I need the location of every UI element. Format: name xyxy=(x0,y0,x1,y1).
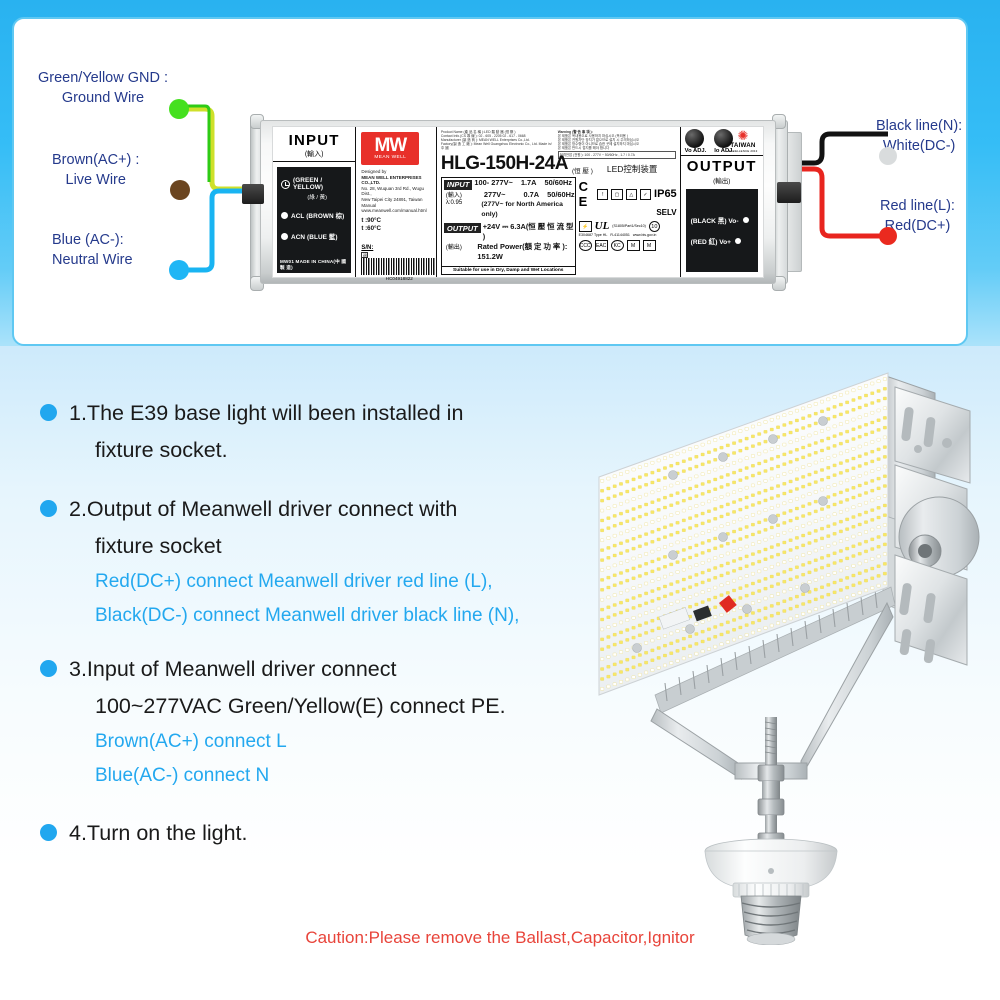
barcode xyxy=(361,258,437,275)
product-info-microtext: Product Name (產 品 名 稱 ):LED 驅 動 器 (恒 壓 )… xyxy=(441,130,552,152)
company-line: MEAN WELL ENTERPRISES CO.,LTD. xyxy=(361,175,432,186)
step-4-text: 4.Turn on the light. xyxy=(69,815,600,852)
ul-mark-icon: UL xyxy=(595,220,610,232)
cert-row-4: CCC EAC KC M M xyxy=(579,240,677,251)
taiwan-star-icon: ✺ xyxy=(726,130,760,142)
step-bullet-icon xyxy=(40,660,57,677)
spec-body: INPUT 100- 277V~ 1.7A 50/60Hz (輸入) 277V~… xyxy=(441,177,677,275)
input-terminal-panel: INPUT (輸入) (GREEN / YELLOW) (綠 / 黃) ACL … xyxy=(273,127,356,277)
terminal-sub-label: (綠 / 黃) xyxy=(287,193,347,201)
input-title-block: INPUT (輸入) xyxy=(273,127,355,162)
output-spec-row-2: (輸出) Rated Power(額 定 功 率 ): 151.2W xyxy=(442,242,575,262)
mount-hole xyxy=(942,438,952,448)
output-cable-gland xyxy=(777,182,801,203)
meanwell-logo: MW MEAN WELL xyxy=(361,132,419,165)
micro-warning-4: 본 제품은 반드시 접지를 해야 합니다 xyxy=(558,146,676,150)
step-2-text: 2.Output of Meanwell driver connect with… xyxy=(69,491,600,565)
mount-hole xyxy=(914,445,922,453)
terminal-dot-icon xyxy=(281,233,288,240)
kc-mark-icon: KC xyxy=(611,240,624,251)
address-line-1: No. 28, Wuquan 3rd Rd., Wugu Dist., xyxy=(361,186,432,197)
output-spec-row-1: OUTPUT +24V ⎓ 6.3A(恒 壓 恒 流 型 ) xyxy=(442,222,575,242)
step-bullet-icon xyxy=(40,500,57,517)
terminal-dot-icon xyxy=(743,217,749,223)
vo-adj-label: Vo ADJ. xyxy=(685,148,707,154)
ccc-mark-icon: CCC xyxy=(579,240,592,251)
socket-vent-hole xyxy=(768,868,774,874)
black-output-wire xyxy=(794,134,888,163)
certification-panel: C E ! ▢ △ ✓ IP65 SELV ⚡ UL (S1805/Part1/… xyxy=(576,177,677,275)
micro-factory: Factory(製 造 工 廠 ): Mean Well Guangzhou E… xyxy=(441,142,552,150)
step-3-line-1: 3.Input of Meanwell driver connect xyxy=(69,657,396,681)
step-2-line-2: fixture socket xyxy=(69,528,600,565)
ce-extra-icon: M xyxy=(627,240,640,251)
output-terminal-label: (RED 紅) Vo+ xyxy=(691,236,731,246)
cert-row-selv: SELV xyxy=(579,208,677,217)
ip-rating: IP65 xyxy=(654,188,677,200)
input-cn-label: (輸入) xyxy=(442,190,484,200)
step-2: 2.Output of Meanwell driver connect with… xyxy=(40,491,600,633)
terminal-label: ACN (BLUE 藍) xyxy=(291,232,338,241)
input-freq-1: 50/60Hz xyxy=(544,178,572,190)
step-3-line-2: 100~277VAC Green/Yellow(E) connect PE. xyxy=(69,688,600,725)
white-dc-negative-endpoint xyxy=(879,147,897,165)
taiwan-excellence-badge: ✺ TAIWAN EXCELLENCE 2013 xyxy=(726,130,760,153)
rcm-icon: ✓ xyxy=(640,189,651,200)
ground-wire-endpoint xyxy=(169,99,189,119)
output-title: OUTPUT xyxy=(681,158,763,175)
terminal-row-acl: ACL (BROWN 棕) xyxy=(281,211,347,220)
specification-panel: Product Name (產 品 名 稱 ):LED 驅 動 器 (恒 壓 )… xyxy=(437,127,680,277)
rated-power: Rated Power(額 定 功 率 ): 151.2W xyxy=(477,242,574,262)
step-1: 1.The E39 base light will been installed… xyxy=(40,395,600,469)
ce-extra-icon-2: M xyxy=(643,240,656,251)
output-tag: OUTPUT xyxy=(444,223,481,233)
spec-microtext-area: Product Name (產 品 名 稱 ):LED 驅 動 器 (恒 壓 )… xyxy=(441,130,677,152)
selv-mark: SELV xyxy=(656,208,676,217)
meanwell-led-driver: INPUT (輸入) (GREEN / YELLOW) (綠 / 黃) ACL … xyxy=(248,112,788,292)
input-terminal-legend: (GREEN / YELLOW) (綠 / 黃) ACL (BROWN 棕) A… xyxy=(277,167,351,273)
cert-row-3: E304687 Type HL R-41144051 www.bis.gov.i… xyxy=(579,233,677,237)
bis-line-2: R-41144051 xyxy=(610,233,630,237)
input-current-2: 0.7A xyxy=(523,190,539,200)
output-terminal-label: (BLACK 黑) Vo- xyxy=(691,215,739,225)
output-row-black: (BLACK 黑) Vo- xyxy=(691,215,758,225)
hex-nut-lower xyxy=(758,799,784,815)
step-bullet-icon xyxy=(40,404,57,421)
terminal-dot-icon xyxy=(281,212,288,219)
made-in-text: MW01 MADE IN CHINA(中 國 製 造) xyxy=(280,259,351,271)
double-insulation-icon: ▢ xyxy=(611,189,622,200)
step-4: 4.Turn on the light. xyxy=(40,815,600,852)
hex-nut-upper xyxy=(758,765,784,781)
manual-url-line: Manual www.meanwell.com/manual.html xyxy=(361,203,432,214)
vo-adj-group: Vo ADJ. xyxy=(685,129,707,154)
taiwan-text: TAIWAN xyxy=(726,142,760,149)
ce-mark-icon: C E xyxy=(579,179,595,209)
terminal-label: (GREEN / YELLOW) xyxy=(293,177,347,191)
vo-adj-knob[interactable] xyxy=(685,129,704,148)
step-1-text: 1.The E39 base light will been installed… xyxy=(69,395,600,469)
output-title-block: OUTPUT (輸出) xyxy=(681,155,763,186)
input-region-note: (277V~ for North America only) xyxy=(481,200,574,220)
yoke-left-arm xyxy=(651,709,741,779)
warning-triangle-icon: ! xyxy=(597,189,608,200)
step-bullet-icon xyxy=(40,824,57,841)
step-3-sub-2: Blue(AC-) connect N xyxy=(95,759,600,793)
step-1-line-2: fixture socket. xyxy=(69,432,600,469)
led-retrofit-kit-image xyxy=(595,365,1000,945)
model-row: HLG-150H-24A (恒 壓 ) LED控制装置 xyxy=(441,153,677,175)
electrical-spec-table: INPUT 100- 277V~ 1.7A 50/60Hz (輸入) 277V~… xyxy=(441,177,576,275)
neutral-wire-endpoint xyxy=(169,260,189,280)
live-wire-endpoint xyxy=(170,180,190,200)
step-4-line-1: 4.Turn on the light. xyxy=(69,821,247,845)
model-number-cn: (恒 壓 ) xyxy=(572,165,593,175)
input-voltage-1: 100- 277V~ xyxy=(474,178,512,190)
enec-icon: △ xyxy=(626,189,637,200)
output-terminal-legend: (BLACK 黑) Vo- (RED 紅) Vo+ xyxy=(686,189,758,272)
temperature-ratings: t :90°C t :60°C xyxy=(361,217,432,233)
input-current-1: 1.7A xyxy=(521,178,537,190)
output-cn-label: (輸出) xyxy=(442,242,477,262)
input-freq-2: 50/60Hz xyxy=(547,190,575,200)
warning-microtext: Warning (警 告 事 項 ): 본 제품은 옥내용으로 사용하지 마십시… xyxy=(558,130,676,152)
input-title: INPUT xyxy=(273,132,355,149)
brand-panel: MW MEAN WELL Designed by MEAN WELL ENTER… xyxy=(356,127,437,277)
eac-mark-icon: EAC xyxy=(595,240,608,251)
bis-line-1: (S1805/Part1/Sec10) xyxy=(612,224,646,228)
caution-text: Caution:Please remove the Ballast,Capaci… xyxy=(0,928,1000,948)
output-wire-harness xyxy=(770,80,1000,280)
address-line-2: New Taipei City 24891, Taiwan xyxy=(361,197,432,203)
model-number: HLG-150H-24A xyxy=(441,153,568,175)
instruction-steps: 1.The E39 base light will been installed… xyxy=(40,395,600,856)
input-title-cn: (輸入) xyxy=(273,149,355,159)
rohs-10-icon: 10 xyxy=(649,221,660,232)
output-terminal-panel: Vo ADJ. Io ADJ. ✺ TAIWAN EXCELLENCE 2013… xyxy=(680,127,763,277)
taiwan-subtext: EXCELLENCE 2013 xyxy=(726,149,760,153)
threaded-stem-mid xyxy=(762,781,780,801)
power-factor-row: λ:0.95 (277V~ for North America only) xyxy=(442,200,575,220)
tc-rating: t :90°C xyxy=(361,217,432,225)
terminal-row-acn: ACN (BLUE 藍) xyxy=(281,232,347,241)
input-voltage-2: 277V~ xyxy=(484,190,506,200)
earth-ground-icon xyxy=(281,180,290,189)
terminal-row-ground: (GREEN / YELLOW) xyxy=(281,177,347,191)
step-2-sub-1: Red(DC+) connect Meanwell driver red lin… xyxy=(95,565,600,599)
output-title-cn: (輸出) xyxy=(681,175,763,185)
input-tag: INPUT xyxy=(444,180,473,190)
cert-row-2: ⚡ UL (S1805/Part1/Sec10) 10 xyxy=(579,220,677,232)
step-3-text: 3.Input of Meanwell driver connect 100~2… xyxy=(69,651,600,725)
driver-spec-label: INPUT (輸入) (GREEN / YELLOW) (綠 / 黃) ACL … xyxy=(272,126,764,278)
swivel-bolt-head xyxy=(918,544,932,558)
input-cable-gland xyxy=(242,184,264,204)
output-row-red: (RED 紅) Vo+ xyxy=(691,236,758,246)
barcode-number: HC04918822 xyxy=(361,276,437,281)
input-spec-row-2: (輸入) 277V~ 0.7A 50/60Hz xyxy=(442,190,575,200)
led-device-cn: LED控制装置 xyxy=(607,163,658,175)
red-output-wire xyxy=(794,169,888,236)
step-3: 3.Input of Meanwell driver connect 100~2… xyxy=(40,651,600,793)
terminal-label: ACL (BROWN 棕) xyxy=(291,211,344,220)
ta-rating: t :60°C xyxy=(361,225,432,233)
output-voltage-current: +24V ⎓ 6.3A(恒 壓 恒 流 型 ) xyxy=(483,222,575,242)
step-1-line-1: 1.The E39 base light will been installed… xyxy=(69,401,463,425)
mw-logo-subtext: MEAN WELL xyxy=(374,155,406,160)
terminal-dot-icon xyxy=(735,238,741,244)
step-2-line-1: 2.Output of Meanwell driver connect with xyxy=(69,497,457,521)
red-dc-positive-endpoint xyxy=(879,227,897,245)
power-factor: λ:0.95 xyxy=(442,200,482,220)
serial-number-label: S/N: xyxy=(361,245,373,251)
step-2-sub-2: Black(DC-) connect Meanwell driver black… xyxy=(95,599,600,633)
input-spec-row-1: INPUT 100- 277V~ 1.7A 50/60Hz xyxy=(442,178,575,190)
location-suitability-note: Suitable for use in Dry, Damp and Wet Lo… xyxy=(442,266,575,274)
led-panel xyxy=(599,373,888,695)
bis-line-3: www.bis.gov.in xyxy=(633,233,657,237)
ul-file-number: E304687 Type HL xyxy=(579,233,608,237)
mw-logo-text: MW xyxy=(374,137,406,155)
eac-small-icon: ⚡ xyxy=(579,221,592,232)
cert-row-1: C E ! ▢ △ ✓ IP65 xyxy=(579,179,677,209)
step-3-sub-1: Brown(AC+) connect L xyxy=(95,725,600,759)
